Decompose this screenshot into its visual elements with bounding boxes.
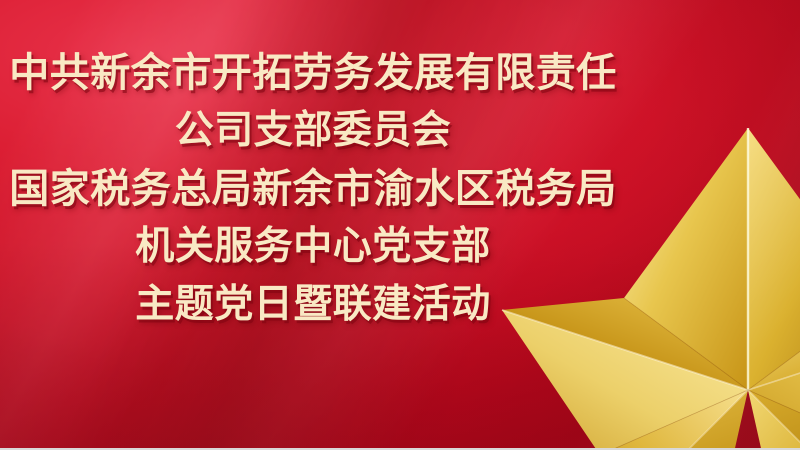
headline-line-3: 国家税务总局新余市渝水区税务局: [0, 160, 626, 218]
headline-block: 中共新余市开拓劳务发展有限责任 公司支部委员会 国家税务总局新余市渝水区税务局 …: [0, 44, 626, 334]
headline-line-2: 公司支部委员会: [0, 102, 626, 160]
headline-line-4: 机关服务中心党支部: [0, 218, 626, 276]
headline-line-1: 中共新余市开拓劳务发展有限责任: [0, 44, 626, 102]
event-poster: 中共新余市开拓劳务发展有限责任 公司支部委员会 国家税务总局新余市渝水区税务局 …: [0, 0, 800, 450]
headline-line-5: 主题党日暨联建活动: [0, 276, 626, 334]
